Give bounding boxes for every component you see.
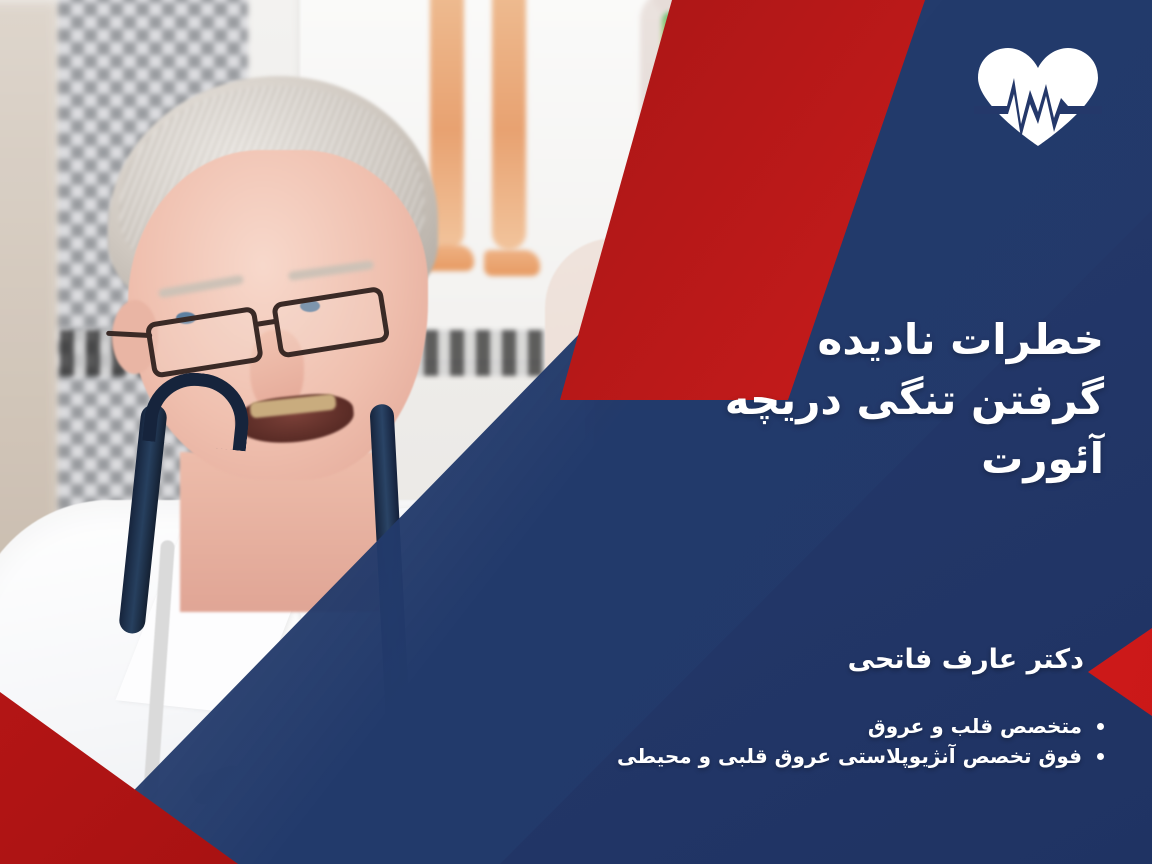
credential-item-1: متخصص قلب و عروق (504, 712, 1104, 742)
headline-line-2: گرفتن تنگی دریچه (684, 370, 1104, 430)
promo-banner: خطرات نادیده گرفتن تنگی دریچه آئورت دکتر… (0, 0, 1152, 864)
credential-label-1: متخصص قلب و عروق (868, 714, 1082, 738)
headline-line-3: آئورت (684, 429, 1104, 489)
poster-leg-right (492, 0, 526, 250)
heart-shape (978, 48, 1098, 146)
heartbeat-pulse-heart-logo (974, 46, 1102, 150)
eyeglass-lens-right (271, 286, 390, 359)
credential-item-2: فوق تخصص آنژیوپلاستی عروق قلبی و محیطی (504, 742, 1104, 772)
credential-label-2: فوق تخصص آنژیوپلاستی عروق قلبی و محیطی (617, 744, 1082, 768)
doctor-name: دکتر عارف فاتحی (848, 644, 1084, 675)
headline-line-1: خطرات نادیده (684, 310, 1104, 370)
poster-foot-right (484, 250, 540, 276)
page-title: خطرات نادیده گرفتن تنگی دریچه آئورت (684, 310, 1104, 489)
eyeglass-lens-left (145, 306, 264, 379)
doctor-credentials-list: متخصص قلب و عروق فوق تخصص آنژیوپلاستی عر… (504, 712, 1104, 771)
bullet-dot-icon (1097, 753, 1104, 760)
bullet-dot-icon (1097, 723, 1104, 730)
